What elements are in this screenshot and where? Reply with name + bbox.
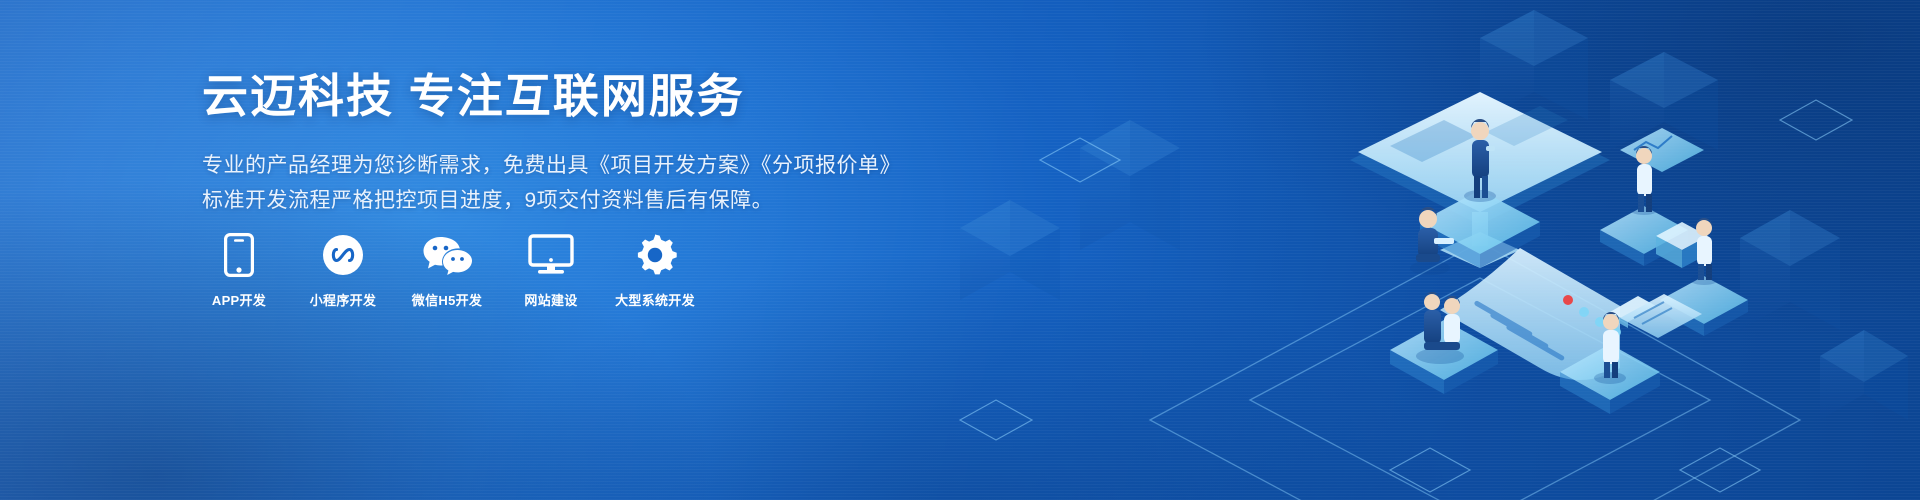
hero-subtitle-line-1: 专业的产品经理为您诊断需求，免费出具《项目开发方案》《分项报价单》	[202, 148, 901, 183]
illustration-artwork	[920, 0, 1920, 500]
service-label-website: 网站建设	[524, 293, 577, 309]
service-item-large-system[interactable]: 大型系统开发	[616, 232, 694, 309]
service-item-mini-program[interactable]: 小程序开发	[304, 232, 382, 309]
mobile-phone-icon	[224, 232, 254, 278]
monitor-icon	[528, 232, 574, 278]
service-label-large-system: 大型系统开发	[615, 293, 695, 309]
service-label-wechat-h5: 微信H5开发	[412, 293, 482, 309]
page-title: 云迈科技 专注互联网服务	[202, 66, 901, 126]
gear-icon	[633, 232, 677, 278]
service-label-mini-program: 小程序开发	[310, 293, 377, 309]
hero-subtitle: 专业的产品经理为您诊断需求，免费出具《项目开发方案》《分项报价单》 标准开发流程…	[202, 148, 901, 218]
hero-copy: 云迈科技 专注互联网服务 专业的产品经理为您诊断需求，免费出具《项目开发方案》《…	[202, 66, 901, 218]
wechat-icon	[422, 232, 472, 278]
hero-banner: 云迈科技 专注互联网服务 专业的产品经理为您诊断需求，免费出具《项目开发方案》《…	[0, 0, 1920, 500]
person-pair-lower-left	[1416, 292, 1464, 364]
service-item-app[interactable]: APP开发	[200, 232, 278, 309]
service-label-app: APP开发	[212, 293, 266, 309]
mini-program-icon	[322, 232, 364, 278]
service-list: APP开发 小程序开发 微信	[200, 232, 694, 309]
hero-subtitle-line-2: 标准开发流程严格把控项目进度，9项交付资料售后有保障。	[202, 183, 901, 218]
service-item-wechat-h5[interactable]: 微信H5开发	[408, 232, 486, 309]
service-item-website[interactable]: 网站建设	[512, 232, 590, 309]
